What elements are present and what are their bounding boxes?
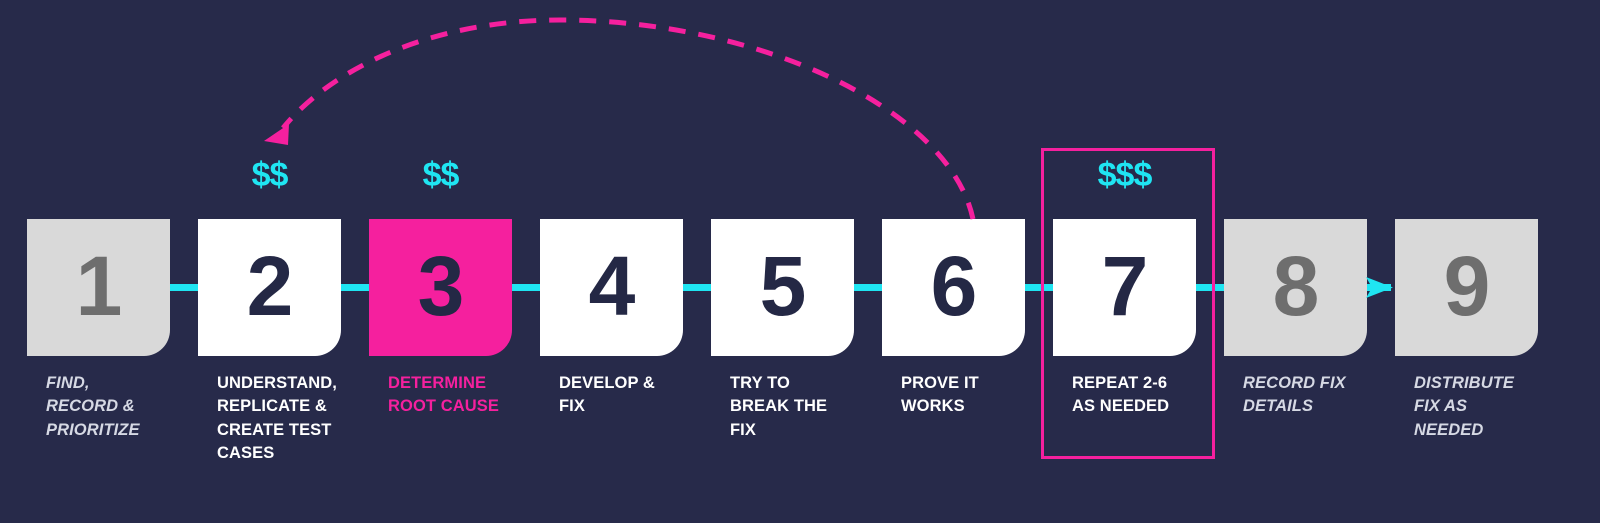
cost-marker-step-2: $$ [198,158,341,192]
step-number-6: 6 [931,244,977,328]
step-card-6[interactable]: 6 [882,219,1025,356]
process-diagram: 1 2 3 4 5 6 7 8 9 $$ $$ $$$ FIND, RECORD… [0,0,1600,523]
step-number-7: 7 [1102,244,1148,328]
step-card-3[interactable]: 3 [369,219,512,356]
step-number-5: 5 [760,244,806,328]
step-card-4[interactable]: 4 [540,219,683,356]
step-card-9[interactable]: 9 [1395,219,1538,356]
step-card-7[interactable]: 7 [1053,219,1196,356]
step-label-1: FIND, RECORD & PRIORITIZE [46,372,206,442]
connector-rail-8-9 [1365,284,1391,291]
cost-marker-step-3: $$ [369,158,512,192]
step-card-5[interactable]: 5 [711,219,854,356]
step-label-8: RECORD FIX DETAILS [1243,372,1403,419]
step-label-9: DISTRIBUTE FIX AS NEEDED [1414,372,1574,442]
step-card-1[interactable]: 1 [27,219,170,356]
step-label-6: PROVE IT WORKS [901,372,1061,419]
step-number-2: 2 [247,244,293,328]
step-label-3: DETERMINE ROOT CAUSE [388,372,548,419]
step-card-8[interactable]: 8 [1224,219,1367,356]
step-number-4: 4 [589,244,635,328]
step-card-2[interactable]: 2 [198,219,341,356]
step-label-2: UNDERSTAND, REPLICATE & CREATE TEST CASE… [217,372,377,466]
cost-marker-step-7: $$$ [1053,158,1196,192]
loopback-arrowhead-icon [264,124,289,145]
step-label-5: TRY TO BREAK THE FIX [730,372,890,442]
step-number-8: 8 [1273,244,1319,328]
step-number-3: 3 [418,244,464,328]
step-number-9: 9 [1444,244,1490,328]
step-label-4: DEVELOP & FIX [559,372,719,419]
step-number-1: 1 [76,244,122,328]
step-label-7: REPEAT 2-6 AS NEEDED [1072,372,1232,419]
